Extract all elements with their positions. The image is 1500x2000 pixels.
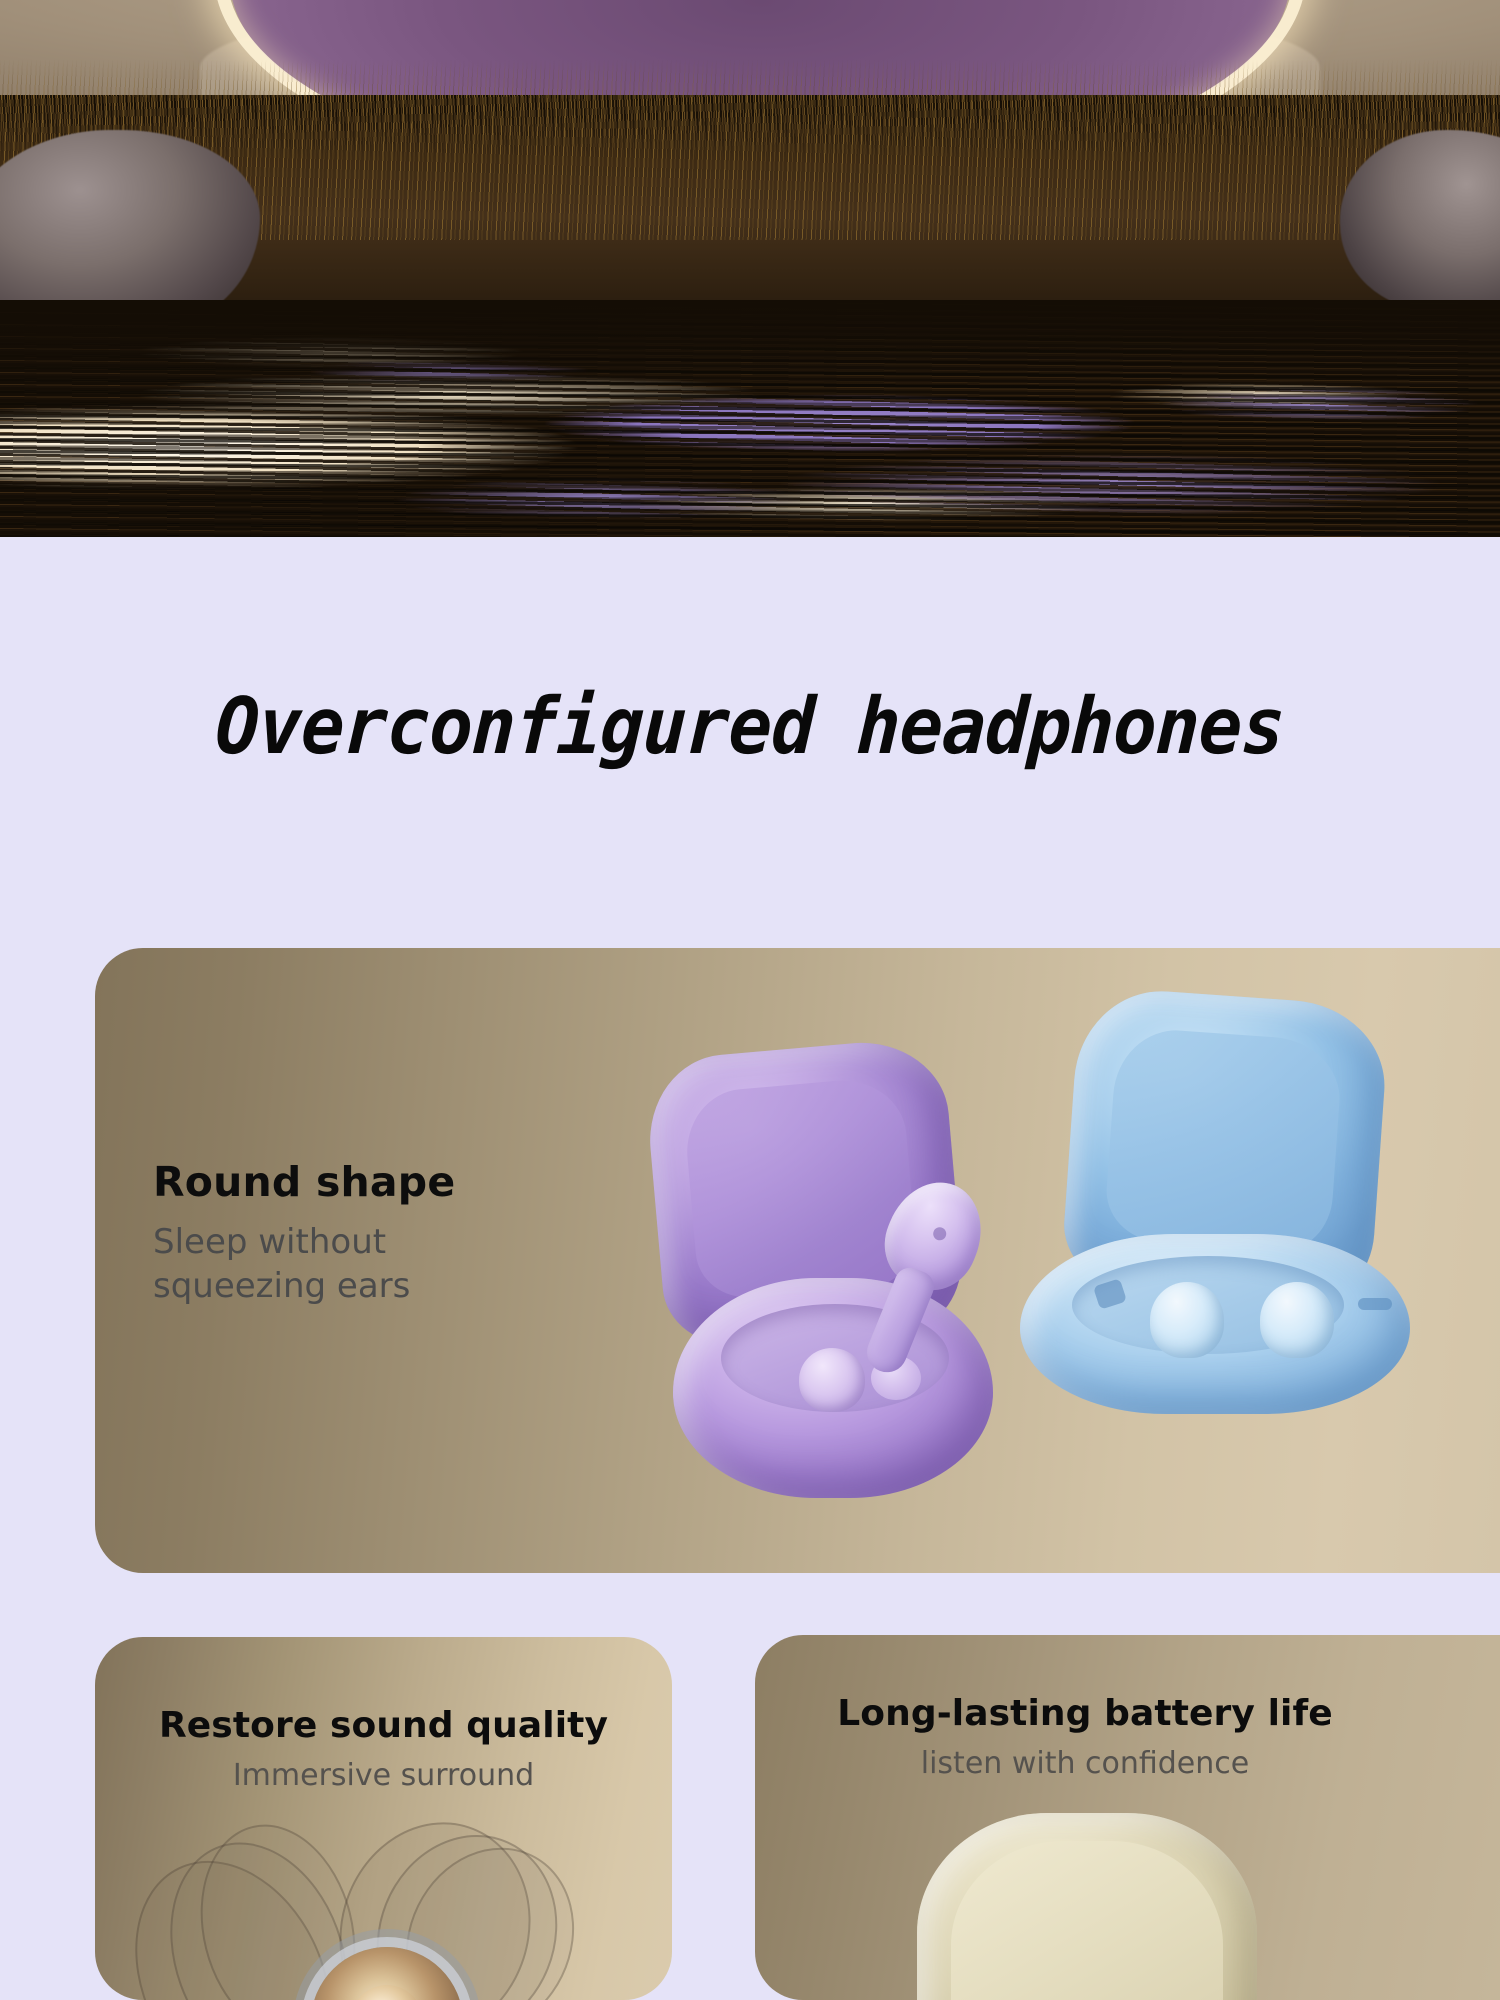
blue-case-tray <box>1072 1256 1344 1354</box>
feature-card-subtitle: Sleep without squeezing ears <box>153 1221 583 1308</box>
blue-case-charging-port <box>1358 1298 1392 1310</box>
water-top-shadow <box>0 300 1500 537</box>
speaker-driver-core <box>351 1985 423 2000</box>
feature-card-round-shape[interactable]: Round shape Sleep without squeezing ears <box>95 948 1500 1573</box>
battery-life-title: Long-lasting battery life <box>755 1693 1415 1734</box>
acoustic-rings-image <box>133 1815 633 2000</box>
purple-earbud-touch-sensor <box>931 1225 948 1242</box>
product-detail-page: Overconfigured headphones Round shape Sl… <box>0 0 1500 2000</box>
blue-earbud-right <box>1260 1282 1334 1358</box>
feature-card-battery-life[interactable]: Long-lasting battery life listen with co… <box>755 1635 1500 2000</box>
purple-earbud-stem <box>861 1263 939 1378</box>
sound-quality-subtitle: Immersive surround <box>95 1758 672 1793</box>
feature-card-text-block: Round shape Sleep without squeezing ears <box>153 1160 583 1308</box>
page-title: Overconfigured headphones <box>51 688 1450 766</box>
hero-image <box>0 0 1500 537</box>
ivory-charging-case-inner <box>951 1841 1223 2000</box>
blue-earbud-left <box>1150 1282 1224 1358</box>
ivory-charging-case-image <box>917 1813 1257 2000</box>
blue-earbud-case-image <box>1020 996 1440 1416</box>
sound-quality-text-block: Restore sound quality Immersive surround <box>95 1705 672 1793</box>
blue-case-body <box>1020 1234 1410 1414</box>
feature-card-subtitle-line-1: Sleep without <box>153 1221 583 1265</box>
water-reflection <box>0 300 1500 537</box>
blue-case-notch <box>1093 1278 1127 1309</box>
blue-case-lid-inner <box>1103 1026 1343 1253</box>
sound-quality-title: Restore sound quality <box>95 1705 672 1746</box>
feature-card-subtitle-line-2: squeezing ears <box>153 1265 583 1309</box>
battery-life-subtitle: listen with confidence <box>755 1746 1415 1781</box>
battery-life-text-block: Long-lasting battery life listen with co… <box>755 1693 1415 1781</box>
feature-card-title: Round shape <box>153 1160 583 1205</box>
feature-card-sound-quality[interactable]: Restore sound quality Immersive surround <box>95 1637 672 2000</box>
